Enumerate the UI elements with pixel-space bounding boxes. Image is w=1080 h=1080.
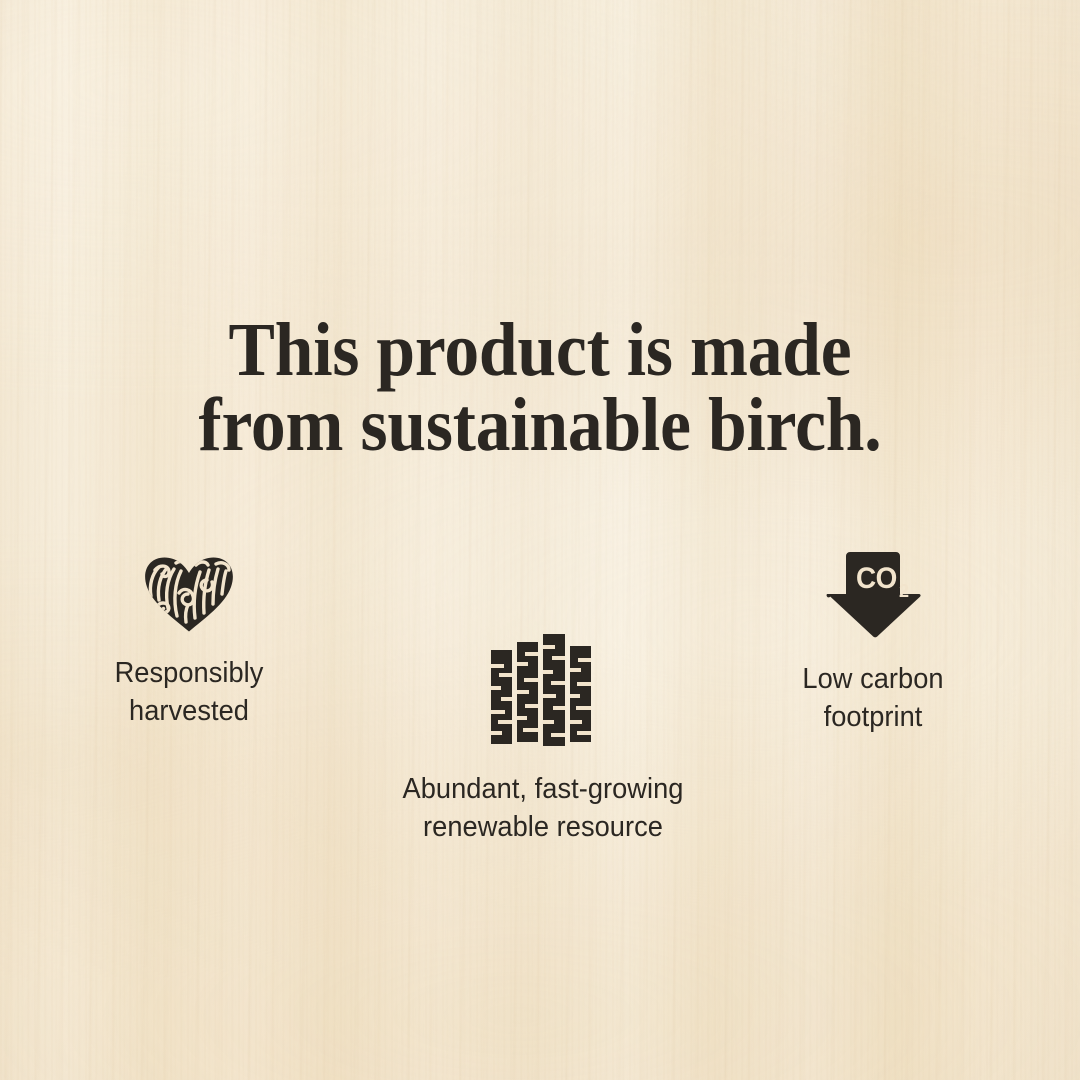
sustainable-birch-card: This product is made from sustainable bi… <box>0 0 1080 1080</box>
feature-responsibly-harvested: Responsibly harvested <box>64 552 314 730</box>
wood-noise-overlay <box>0 0 1080 1080</box>
feature-caption: Low carbon footprint <box>754 660 993 736</box>
page-title: This product is made from sustainable bi… <box>46 313 1034 463</box>
co2-label: CO <box>856 562 897 595</box>
wood-grain-texture-fine <box>0 0 1080 1080</box>
icon-container: CO 2 <box>748 552 998 638</box>
wood-grain-heart-icon <box>143 556 235 632</box>
feature-caption: Abundant, fast-growing renewable resourc… <box>400 770 687 846</box>
wood-background-vignette <box>0 0 1080 1080</box>
co2-down-arrow-icon: CO 2 <box>821 552 925 638</box>
wood-background-base <box>0 0 1080 1080</box>
feature-low-carbon-footprint: CO 2 Low carbon footprint <box>748 552 998 736</box>
wood-grain-texture <box>0 0 1080 1080</box>
icon-container <box>64 552 314 632</box>
icon-container <box>393 630 693 746</box>
wood-background-bands <box>0 0 1080 1080</box>
birch-trunks-icon <box>491 634 595 746</box>
feature-renewable-resource: Abundant, fast-growing renewable resourc… <box>393 630 693 846</box>
co2-subscript: 2 <box>899 581 909 601</box>
feature-caption: Responsibly harvested <box>70 654 309 730</box>
